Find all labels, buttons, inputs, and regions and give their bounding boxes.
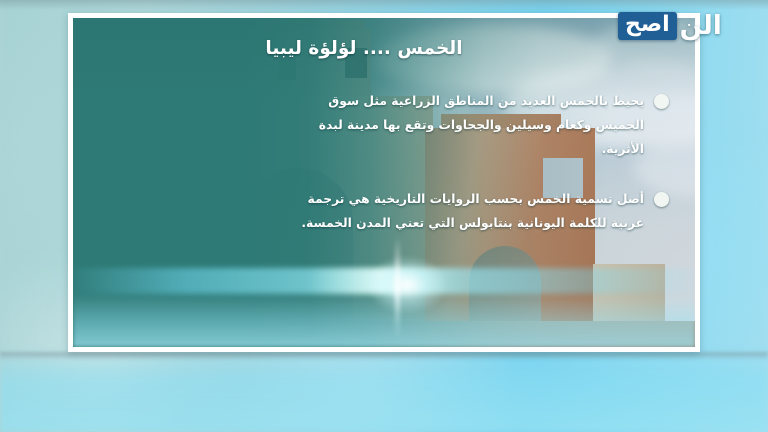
channel-logo: الن اصح [618, 6, 758, 46]
channel-logo-text: الن [680, 13, 722, 39]
bullet-text: أصل تسمية الخمس بحسب الروايات التاريخية … [299, 188, 644, 236]
broadcast-screen: الخمس .... لؤلؤة ليبيا يحيط بالخمس العدي… [0, 0, 768, 432]
bullet-item: أصل تسمية الخمس بحسب الروايات التاريخية … [299, 188, 669, 236]
channel-logo-badge: اصح [618, 12, 677, 39]
slide-content: الخمس .... لؤلؤة ليبيا يحيط بالخمس العدي… [73, 18, 695, 347]
slide-card: الخمس .... لؤلؤة ليبيا يحيط بالخمس العدي… [73, 18, 695, 347]
bullet-list: يحيط بالخمس العديد من المناطق الزراعية م… [299, 90, 669, 262]
slide-title: الخمس .... لؤلؤة ليبيا [73, 38, 695, 59]
bullet-text: يحيط بالخمس العديد من المناطق الزراعية م… [299, 90, 644, 162]
bullet-dot-icon [654, 94, 669, 109]
studio-ceiling-edge [0, 352, 768, 360]
bullet-item: يحيط بالخمس العديد من المناطق الزراعية م… [299, 90, 669, 162]
bullet-dot-icon [654, 192, 669, 207]
slide-card-frame: الخمس .... لؤلؤة ليبيا يحيط بالخمس العدي… [68, 13, 700, 352]
